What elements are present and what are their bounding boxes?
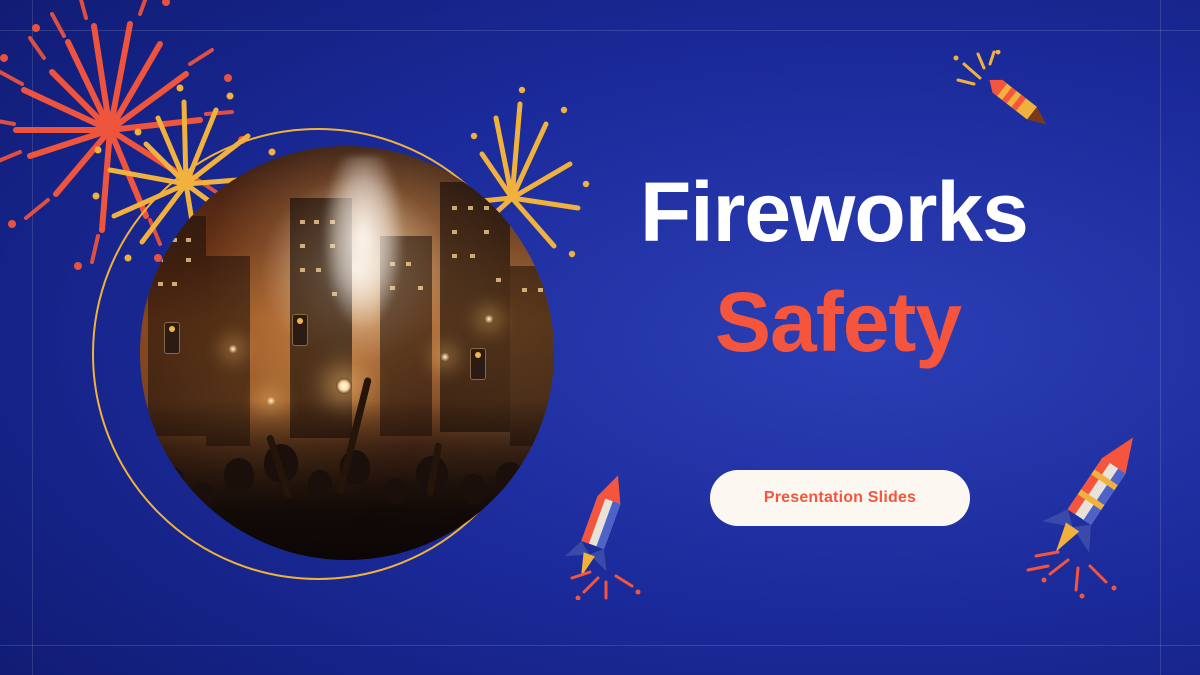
guide-line-left — [32, 0, 33, 675]
presentation-slide: Fireworks Safety Presentation Slides — [0, 0, 1200, 675]
page-title-line-2: Safety — [715, 278, 1160, 366]
title-block: Fireworks Safety — [640, 170, 1160, 366]
rocket-bottom-center-icon — [556, 460, 666, 600]
photo-container — [92, 128, 544, 580]
guide-line-top — [0, 30, 1200, 31]
photo-image — [140, 146, 554, 560]
rocket-bottom-right-icon — [1020, 420, 1160, 600]
crowd-with-flare-photo — [140, 146, 554, 560]
guide-line-bottom — [0, 645, 1200, 646]
guide-line-right — [1160, 0, 1161, 675]
presentation-slides-button-label: Presentation Slides — [764, 489, 916, 507]
presentation-slides-button[interactable]: Presentation Slides — [710, 470, 970, 526]
page-title-line-1: Fireworks — [640, 170, 1160, 256]
rocket-top-right-icon — [950, 50, 1060, 128]
